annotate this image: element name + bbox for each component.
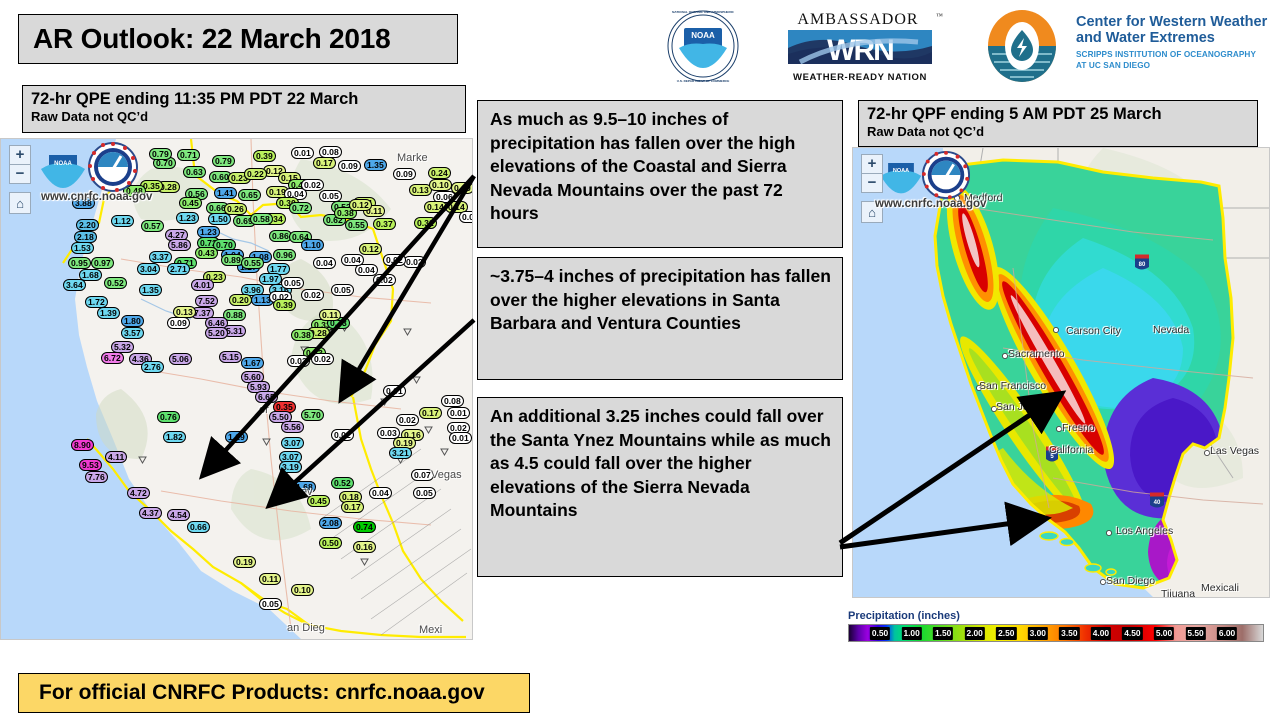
cw3e-line2: and Water Extremes [1076,30,1215,46]
svg-text:NOAA: NOAA [893,168,909,174]
qpe-map-controls[interactable]: + − ⌂ [9,145,31,213]
station-value-bubble: 0.02 [311,353,334,365]
qpf-watermark-url: www.cnrfc.noaa.gov [875,198,986,210]
station-value-bubble: 0.17 [313,157,336,169]
zoom-in-button[interactable]: + [861,154,883,174]
zoom-out-button[interactable]: − [9,164,31,184]
qpf-header-line1: 72-hr QPF ending 5 AM PDT 25 March [867,105,1249,124]
station-value-bubble: 0.12 [359,243,382,255]
nws-small-icon [921,150,971,200]
noaa-logo: NOAA NATIONAL OCEANIC AND ATMOSPHERIC U.… [655,8,751,84]
qpe-watermark-url: www.cnrfc.noaa.gov [41,191,152,203]
station-value-bubble: 4.37 [139,507,162,519]
city-label: San Jose [996,401,1040,413]
city-label: Los Angeles [1116,525,1173,537]
station-value-bubble: 0.24 [428,167,451,179]
station-value-bubble: 7.76 [85,471,108,483]
station-value-bubble: 0.16 [353,541,376,553]
station-value-bubble: 9.53 [79,459,102,471]
qpe-panel-header: 72-hr QPE ending 11:35 PM PDT 22 March R… [22,85,466,133]
station-value-bubble: 0.12 [349,199,372,211]
station-value-bubble: 0.05 [331,284,354,296]
city-label: San Diego [1106,575,1155,587]
svg-text:NATIONAL OCEANIC AND ATMOSPHER: NATIONAL OCEANIC AND ATMOSPHERIC [672,10,734,14]
station-value-bubble: 5.70 [301,409,324,421]
station-value-bubble: 0.09 [393,168,416,180]
city-label: an Dieg [287,622,325,634]
station-value-bubble: 1.35 [139,284,162,296]
wrn-tagline: WEATHER-READY NATION [770,72,950,83]
svg-text:™: ™ [936,12,943,20]
noaa-small-icon: NOAA [37,143,89,193]
station-value-bubble: 0.63 [183,166,206,178]
station-value-bubble: 0.43 [195,247,218,259]
zoom-out-button[interactable]: − [861,173,883,193]
legend-tick: 6.00 [1217,627,1237,640]
station-value-bubble: 0.38 [291,329,314,341]
station-value-bubble: 0.39 [253,150,276,162]
city-label: Nevada [1153,324,1189,336]
station-value-bubble: 0.45 [179,197,202,209]
station-value-bubble: 0.20 [229,294,252,306]
station-value-bubble: 0.05 [281,277,304,289]
station-value-bubble: 2.08 [319,517,342,529]
station-value-bubble: 0.01 [447,407,470,419]
station-value-bubble: 0.08 [441,395,464,407]
nws-small-icon [87,141,139,193]
legend-colorbar: 0.501.001.502.002.503.003.504.004.505.00… [848,624,1264,642]
station-value-bubble: 0.74 [353,521,376,533]
station-value-bubble: 2.20 [76,219,99,231]
city-label: Mexicali [1201,582,1239,594]
station-value-bubble: 0.02 [331,429,354,441]
station-value-bubble: 0.37 [373,218,396,230]
station-value-bubble: 0.39 [273,299,296,311]
station-value-bubble: 1.19 [225,431,248,443]
cw3e-mark [980,10,1064,82]
station-value-bubble: 0.04 [313,257,336,269]
station-value-bubble: 3.21 [389,447,412,459]
city-label: or [259,404,269,416]
station-value-bubble: 0.10 [429,179,452,191]
qpe-map[interactable]: + − ⌂ NOAA www.cnrfc.noaa.gov MarkeNevVe… [0,138,473,640]
cw3e-line4: AT UC SAN DIEGO [1076,61,1150,70]
station-value-bubble: 3.04 [137,263,160,275]
station-value-bubble: 0.66 [187,521,210,533]
svg-text:40: 40 [1154,500,1161,506]
home-icon[interactable]: ⌂ [9,192,31,214]
logo-row: NOAA NATIONAL OCEANIC AND ATMOSPHERIC U.… [620,4,1280,86]
station-value-bubble: 0.03 [287,355,310,367]
qpe-header-line1: 72-hr QPE ending 11:35 PM PDT 22 March [31,90,457,109]
station-value-bubble: 6.65 [255,391,278,403]
legend-tick: 1.00 [901,627,921,640]
svg-text:NOAA: NOAA [691,31,715,40]
city-label: Mexi [419,624,442,636]
station-value-bubble: 0.09 [167,317,190,329]
city-label: Marke [397,152,428,164]
station-value-bubble: 1.53 [71,242,94,254]
qpf-map-basemap: 80 5 40 [853,148,1269,597]
station-value-bubble: 8.90 [71,439,94,451]
svg-text:NOAA: NOAA [54,161,72,167]
legend-tick: 0.50 [870,627,890,640]
station-value-bubble: 0.79 [149,148,172,160]
station-value-bubble: 3.07 [281,437,304,449]
city-label: Sacramento [1008,348,1065,360]
station-value-bubble: 0.17 [419,407,442,419]
station-value-bubble: 0.05 [413,487,436,499]
noaa-small-icon: NOAA [877,152,925,198]
callout-box-socal-observed: ~3.75–4 inches of precipitation has fall… [477,257,843,380]
station-value-bubble: 0.96 [273,249,296,261]
station-value-bubble: 5.20 [205,327,228,339]
footer-text: For official CNRFC Products: cnrfc.noaa.… [39,681,485,705]
cw3e-line1: Center for Western Weather [1076,14,1267,30]
station-value-bubble: 2.71 [167,263,190,275]
station-value-bubble: 0.55 [345,219,368,231]
svg-text:AMBASSADOR: AMBASSADOR [797,11,918,28]
legend-tick: 2.50 [996,627,1016,640]
station-value-bubble: 3.64 [63,279,86,291]
station-value-bubble: 4.72 [127,487,150,499]
station-value-bubble: 0.72 [289,202,312,214]
zoom-in-button[interactable]: + [9,145,31,165]
city-label: Nev [293,486,313,498]
station-value-bubble: 3.57 [121,327,144,339]
station-value-bubble: 0.02 [301,289,324,301]
callout-box-observed-total: As much as 9.5–10 inches of precipitatio… [477,100,843,248]
station-value-bubble: 5.06 [169,353,192,365]
city-label: Vegas [431,469,462,481]
city-label: Carson City [1066,325,1121,337]
station-value-bubble: 0.22 [244,168,267,180]
station-value-bubble: 3.19 [279,461,302,473]
city-label: Tijuana [1161,588,1195,598]
cw3e-text: Center for Western Weather and Water Ext… [1076,14,1280,71]
station-value-bubble: 0.04 [341,254,364,266]
legend-title: Precipitation (inches) [848,610,1264,622]
station-value-bubble: 1.67 [241,357,264,369]
station-value-bubble: 0.11 [259,573,281,585]
cw3e-line3: SCRIPPS INSTITUTION OF OCEANOGRAPHY [1076,50,1256,59]
station-value-bubble: 4.11 [105,451,127,463]
station-value-bubble: 0.17 [341,501,364,513]
station-value-bubble: 1.50 [208,213,231,225]
station-value-bubble: 1.23 [176,212,199,224]
station-value-bubble: 2.76 [141,361,164,373]
qpf-panel-header: 72-hr QPF ending 5 AM PDT 25 March Raw D… [858,100,1258,147]
station-value-bubble: 0.11 [319,309,341,321]
station-value-bubble: 5.86 [168,239,191,251]
qpe-header-line2: Raw Data not QC’d [31,109,457,124]
svg-text:80: 80 [1139,262,1146,268]
station-value-bubble: 1.41 [214,187,237,199]
city-label: San Francisco [979,380,1046,392]
city-label: Las Vegas [1210,445,1259,457]
station-value-bubble: 1.12 [111,215,134,227]
station-value-bubble: 0.50 [319,537,342,549]
station-value-bubble: 1.35 [364,159,387,171]
station-value-bubble: 0.10 [291,584,314,596]
station-value-bubble: 0.14 [424,201,447,213]
station-value-bubble: 0.55 [241,257,264,269]
callout-box-forecast-additional: An additional 3.25 inches could fall ove… [477,397,843,577]
svg-text:U.S. DEPARTMENT OF COMMERCE: U.S. DEPARTMENT OF COMMERCE [677,79,730,83]
station-value-bubble: 0.04 [369,487,392,499]
qpf-map[interactable]: 80 5 40 + − ⌂ NOAA [852,147,1270,598]
station-value-bubble: 0.01 [291,147,314,159]
legend-tick: 5.50 [1185,627,1205,640]
station-value-bubble: 0.02 [301,179,324,191]
wrn-ambassador-logo: AMBASSADOR ™ WRN WEATHER-READY NATION [770,10,950,82]
legend-tick: 3.50 [1059,627,1079,640]
station-value-bubble: 0.07 [459,211,473,223]
station-value-bubble: 0.05 [259,598,282,610]
station-value-bubble: 1.10 [301,239,324,251]
qpf-header-line2: Raw Data not QC’d [867,124,1249,139]
legend-tick: 2.00 [965,627,985,640]
station-value-bubble: 0.32 [414,217,437,229]
station-value-bubble: 0.58 [250,213,273,225]
station-value-bubble: 3.37 [149,251,172,263]
station-value-bubble: 0.09 [338,160,361,172]
station-value-bubble: 0.01 [449,432,472,444]
station-value-bubble: 0.71 [177,149,200,161]
station-value-bubble: 0.02 [396,414,419,426]
station-value-bubble: 0.65 [238,189,261,201]
footer-banner[interactable]: For official CNRFC Products: cnrfc.noaa.… [18,673,530,713]
station-value-bubble: 1.39 [97,307,120,319]
station-value-bubble: 0.97 [91,257,114,269]
legend-tick: 1.50 [933,627,953,640]
station-value-bubble: 0.95 [68,257,91,269]
station-value-bubble: 0.02 [383,254,406,266]
station-value-bubble: 5.15 [219,351,242,363]
station-value-bubble: 0.76 [157,411,180,423]
station-value-bubble: 7.52 [195,295,218,307]
station-value-bubble: 0.57 [141,220,164,232]
station-value-bubble: 0.19 [233,556,256,568]
cw3e-logo: Center for Western Weather and Water Ext… [980,10,1280,82]
legend-tick: 4.50 [1122,627,1142,640]
station-value-bubble: 0.52 [331,477,354,489]
station-value-bubble: 1.80 [121,315,144,327]
city-label: Fresno [1062,422,1095,434]
station-value-bubble: 0.52 [104,277,127,289]
qpf-map-controls[interactable]: + − ⌂ [861,154,883,222]
legend-tick: 3.00 [1028,627,1048,640]
legend-tick: 4.00 [1091,627,1111,640]
station-value-bubble: 4.01 [191,279,214,291]
station-value-bubble: 5.56 [281,421,304,433]
city-label: California [1049,444,1093,456]
station-value-bubble: 0.02 [373,274,396,286]
precip-legend: Precipitation (inches) 0.501.001.502.002… [848,610,1264,646]
station-value-bubble: 1.82 [163,431,186,443]
station-value-bubble: 0.02 [403,256,426,268]
page-title: AR Outlook: 22 March 2018 [18,14,458,64]
legend-tick: 5.00 [1154,627,1174,640]
page-title-text: AR Outlook: 22 March 2018 [33,23,391,55]
station-value-bubble: 4.54 [167,509,190,521]
station-value-bubble: 0.79 [212,155,235,167]
station-value-bubble: 6.72 [101,352,124,364]
station-value-bubble: 0.01 [383,385,406,397]
